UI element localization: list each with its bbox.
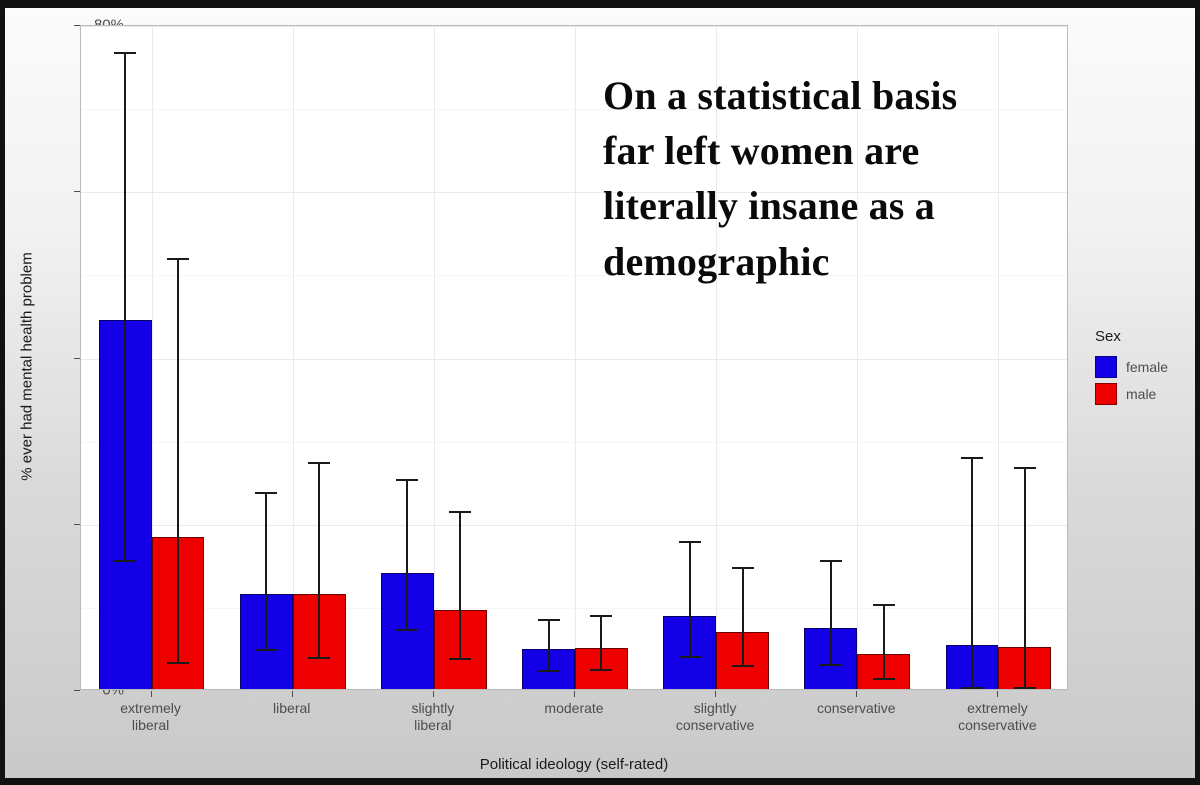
x-tick-mark-0 xyxy=(151,691,152,697)
legend-item-female[interactable]: female xyxy=(1095,353,1200,380)
caption-line-0: On a statistical basis xyxy=(603,68,1043,123)
caption-line-3: demographic xyxy=(603,234,1043,289)
error-bar-stem xyxy=(459,511,461,660)
error-bar-cap-top xyxy=(449,511,471,513)
error-bar-cap-bottom xyxy=(679,656,701,658)
x-tick-label-line: conservative xyxy=(817,700,896,717)
error-bar-cap-top xyxy=(820,560,842,562)
x-tick-label-line: liberal xyxy=(273,700,310,717)
error-bar-stem xyxy=(883,604,885,680)
x-axis-label: Political ideology (self-rated) xyxy=(80,756,1068,773)
error-bar-female-6 xyxy=(952,457,992,689)
caption-line-2: literally insane as a xyxy=(603,178,1043,233)
error-bar-female-5 xyxy=(811,560,851,666)
x-tick-mark-2 xyxy=(433,691,434,697)
x-tick-label-line: slightly xyxy=(411,700,454,717)
x-tick-label-line: slightly xyxy=(676,700,755,717)
legend: Sex femalemale xyxy=(1095,328,1200,407)
x-tick-mark-5 xyxy=(856,691,857,697)
error-bar-stem xyxy=(265,492,267,652)
caption-overlay: On a statistical basisfar left women are… xyxy=(603,68,1043,289)
error-bar-female-4 xyxy=(670,541,710,657)
legend-swatch-female xyxy=(1095,356,1117,378)
error-bar-male-2 xyxy=(440,511,480,660)
error-bar-stem xyxy=(830,560,832,666)
error-bar-female-3 xyxy=(529,619,569,672)
legend-item-male[interactable]: male xyxy=(1095,380,1200,407)
x-tick-label-4: slightlyconservative xyxy=(676,700,755,733)
error-bar-cap-bottom xyxy=(396,629,418,631)
error-bar-cap-bottom xyxy=(820,664,842,666)
error-bar-cap-top xyxy=(538,619,560,621)
gridline-major xyxy=(81,525,1067,526)
legend-label-female: female xyxy=(1126,359,1168,375)
legend-items: femalemale xyxy=(1095,353,1200,407)
caption-line-1: far left women are xyxy=(603,123,1043,178)
x-tick-label-line: conservative xyxy=(958,717,1037,734)
error-bar-cap-top xyxy=(167,258,189,260)
x-tick-label-line: moderate xyxy=(544,700,603,717)
error-bar-male-6 xyxy=(1005,467,1045,689)
error-bar-stem xyxy=(124,52,126,562)
error-bar-male-0 xyxy=(158,258,198,664)
error-bar-cap-bottom xyxy=(873,678,895,680)
error-bar-cap-top xyxy=(396,479,418,481)
legend-swatch-male xyxy=(1095,383,1117,405)
error-bar-cap-top xyxy=(308,462,330,464)
gridline-vertical xyxy=(575,26,576,689)
error-bar-stem xyxy=(689,541,691,657)
error-bar-cap-bottom xyxy=(590,669,612,671)
error-bar-stem xyxy=(177,258,179,664)
error-bar-cap-bottom xyxy=(961,687,983,689)
error-bar-male-3 xyxy=(581,615,621,671)
y-tick-mark-0 xyxy=(74,690,80,691)
x-tick-label-line: extremely xyxy=(120,700,181,717)
error-bar-male-5 xyxy=(864,604,904,680)
x-tick-label-5: conservative xyxy=(817,700,896,717)
x-tick-label-line: liberal xyxy=(120,717,181,734)
chart-screenshot: % ever had mental health problem 0%20%40… xyxy=(0,0,1200,785)
gridline-minor xyxy=(81,608,1067,609)
error-bar-female-0 xyxy=(105,52,145,562)
gridline-major xyxy=(81,26,1067,27)
x-tick-label-3: moderate xyxy=(544,700,603,717)
error-bar-stem xyxy=(600,615,602,671)
error-bar-male-4 xyxy=(723,567,763,667)
gridline-minor xyxy=(81,442,1067,443)
legend-title: Sex xyxy=(1095,328,1200,345)
figure-canvas: % ever had mental health problem 0%20%40… xyxy=(5,8,1195,778)
error-bar-cap-bottom xyxy=(732,665,754,667)
gridline-vertical xyxy=(293,26,294,689)
error-bar-male-1 xyxy=(299,462,339,659)
error-bar-cap-top xyxy=(873,604,895,606)
x-tick-mark-6 xyxy=(997,691,998,697)
error-bar-cap-bottom xyxy=(167,662,189,664)
legend-label-male: male xyxy=(1126,386,1156,402)
error-bar-cap-top xyxy=(255,492,277,494)
error-bar-cap-top xyxy=(732,567,754,569)
error-bar-cap-bottom xyxy=(449,658,471,660)
x-tick-label-2: slightlyliberal xyxy=(411,700,454,733)
error-bar-stem xyxy=(318,462,320,659)
x-tick-mark-1 xyxy=(292,691,293,697)
error-bar-stem xyxy=(548,619,550,672)
error-bar-cap-bottom xyxy=(1014,687,1036,689)
error-bar-cap-top xyxy=(1014,467,1036,469)
error-bar-cap-bottom xyxy=(308,657,330,659)
error-bar-stem xyxy=(742,567,744,667)
error-bar-cap-top xyxy=(679,541,701,543)
error-bar-cap-top xyxy=(114,52,136,54)
gridline-vertical xyxy=(434,26,435,689)
x-tick-label-line: extremely xyxy=(958,700,1037,717)
error-bar-stem xyxy=(406,479,408,631)
error-bar-female-2 xyxy=(387,479,427,631)
error-bar-female-1 xyxy=(246,492,286,652)
error-bar-cap-top xyxy=(590,615,612,617)
error-bar-cap-bottom xyxy=(255,649,277,651)
error-bar-stem xyxy=(971,457,973,689)
x-tick-label-1: liberal xyxy=(273,700,310,717)
error-bar-stem xyxy=(1024,467,1026,689)
error-bar-cap-bottom xyxy=(114,560,136,562)
x-tick-label-6: extremelyconservative xyxy=(958,700,1037,733)
y-axis-label: % ever had mental health problem xyxy=(19,87,36,647)
x-tick-mark-4 xyxy=(715,691,716,697)
x-tick-mark-3 xyxy=(574,691,575,697)
error-bar-cap-top xyxy=(961,457,983,459)
x-tick-label-0: extremelyliberal xyxy=(120,700,181,733)
x-tick-label-line: conservative xyxy=(676,717,755,734)
error-bar-cap-bottom xyxy=(538,670,560,672)
x-tick-label-line: liberal xyxy=(411,717,454,734)
gridline-major xyxy=(81,359,1067,360)
